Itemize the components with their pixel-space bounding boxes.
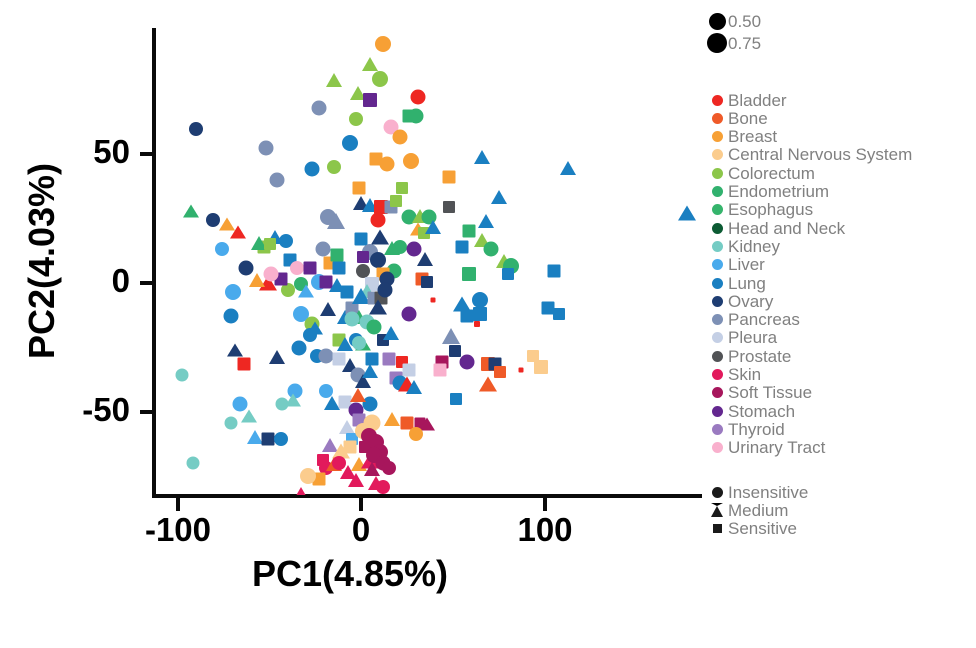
legend-circle-icon <box>712 223 723 234</box>
color-legend-item-breast-marker <box>706 131 728 142</box>
legend-circle-icon <box>712 442 723 453</box>
legend-circle-icon <box>712 131 723 142</box>
y-tick--50 <box>140 410 153 414</box>
x-tick-label-100: 100 <box>485 513 605 546</box>
scatter-point <box>409 109 424 124</box>
legend-circle-icon <box>712 314 723 325</box>
x-tick-100 <box>543 498 547 511</box>
color-legend-item-breast[interactable]: Breast <box>706 128 777 146</box>
scatter-point <box>206 213 220 227</box>
scatter-point <box>355 232 368 245</box>
legend-circle-icon <box>712 95 723 106</box>
scatter-point <box>261 432 274 445</box>
color-legend-item-bladder-label: Bladder <box>728 92 787 109</box>
color-legend-item-endometrium-label: Endometrium <box>728 183 829 200</box>
legend-circle-icon <box>712 113 723 124</box>
scatter-point <box>474 150 490 164</box>
scatter-point <box>238 261 253 276</box>
scatter-point <box>258 141 273 156</box>
scatter-point <box>370 252 386 268</box>
scatter-point <box>300 468 316 484</box>
legend-circle-icon <box>712 332 723 343</box>
color-legend-item-liver-marker <box>706 259 728 270</box>
scatter-point <box>264 266 279 281</box>
scatter-point <box>285 394 301 407</box>
scatter-point <box>384 412 400 426</box>
scatter-point <box>307 322 323 335</box>
color-legend-item-skin-label: Skin <box>728 366 761 383</box>
scatter-point <box>502 268 514 280</box>
scatter-point <box>225 284 241 300</box>
size-legend-item-0-marker <box>706 13 728 30</box>
x-tick-label-0: 0 <box>301 513 421 546</box>
size-legend-item-1-marker <box>706 33 728 53</box>
scatter-point <box>356 264 370 278</box>
color-legend-item-pancreas-marker <box>706 314 728 325</box>
scatter-point <box>378 282 393 297</box>
scatter-point <box>319 349 334 364</box>
color-legend-item-kidney-label: Kidney <box>728 238 780 255</box>
color-legend-item-head-and-neck-marker <box>706 223 728 234</box>
color-legend-item-prostate-marker <box>706 351 728 362</box>
scatter-point <box>175 368 188 381</box>
scatter-point <box>390 195 402 207</box>
color-legend-item-ovary[interactable]: Ovary <box>706 292 773 310</box>
color-legend-item-pleura-label: Pleura <box>728 329 777 346</box>
color-legend-item-soft-tissue-marker <box>706 387 728 398</box>
scatter-point <box>455 240 468 253</box>
scatter-point <box>409 427 423 441</box>
color-legend-item-prostate[interactable]: Prostate <box>706 347 791 365</box>
size-legend-item-0[interactable]: 0.50 <box>706 12 761 30</box>
scatter-point <box>241 410 257 423</box>
scatter-point <box>364 462 380 476</box>
scatter-point <box>450 393 462 405</box>
color-legend-item-esophagus-marker <box>706 204 728 215</box>
scatter-point <box>375 36 391 52</box>
scatter-point <box>376 480 390 494</box>
color-legend-item-lung-marker <box>706 278 728 289</box>
color-legend-item-esophagus[interactable]: Esophagus <box>706 201 813 219</box>
scatter-point <box>442 328 460 344</box>
scatter-point <box>264 238 276 250</box>
scatter-point <box>553 308 565 320</box>
color-legend-item-liver[interactable]: Liver <box>706 256 765 274</box>
scatter-point <box>348 473 364 487</box>
legend-square-icon <box>713 524 722 533</box>
shape-legend-item-medium-marker <box>706 503 728 517</box>
color-legend-item-kidney[interactable]: Kidney <box>706 237 780 255</box>
shape-legend-item-medium[interactable]: Medium <box>706 501 788 519</box>
scatter-point <box>384 241 400 255</box>
legend-circle-icon <box>712 424 723 435</box>
size-legend-item-0-label: 0.50 <box>728 13 761 30</box>
color-legend-item-stomach-label: Stomach <box>728 403 795 420</box>
scatter-point <box>186 456 199 469</box>
color-legend-item-ovary-label: Ovary <box>728 293 773 310</box>
legend-circle-icon <box>712 406 723 417</box>
x-tick--100 <box>176 498 180 511</box>
legend-circle-icon <box>712 149 723 160</box>
legend-circle-icon <box>709 13 726 30</box>
scatter-point <box>215 242 229 256</box>
legend-circle-icon <box>712 487 723 498</box>
shape-legend-item-insensitive-label: Insensitive <box>728 484 808 501</box>
legend-circle-icon <box>707 33 727 53</box>
y-tick-0 <box>140 281 153 285</box>
shape-legend-item-insensitive-marker <box>706 487 728 498</box>
scatter-point <box>315 242 330 257</box>
scatter-point <box>227 343 243 356</box>
color-legend-item-pancreas[interactable]: Pancreas <box>706 311 800 329</box>
scatter-point <box>382 352 395 365</box>
color-legend-item-bone-marker <box>706 113 728 124</box>
scatter-point <box>333 262 346 275</box>
color-legend-item-stomach[interactable]: Stomach <box>706 402 795 420</box>
legend-circle-icon <box>712 296 723 307</box>
color-legend-item-skin-marker <box>706 369 728 380</box>
color-legend-item-pancreas-label: Pancreas <box>728 311 800 328</box>
x-tick-label--100: -100 <box>118 513 238 546</box>
color-legend-item-colorectum-marker <box>706 168 728 179</box>
color-legend-item-thyroid[interactable]: Thyroid <box>706 420 785 438</box>
scatter-point <box>327 213 345 229</box>
legend-circle-icon <box>712 186 723 197</box>
color-legend-item-esophagus-label: Esophagus <box>728 201 813 218</box>
color-legend-item-bone[interactable]: Bone <box>706 109 768 127</box>
scatter-point <box>304 162 319 177</box>
legend-circle-icon <box>712 241 723 252</box>
scatter-point <box>342 135 358 151</box>
pca-scatter-figure: 50 0 -50 -100 0 100 PC1(4.85%) PC2(4.03%… <box>0 0 976 648</box>
scatter-point <box>460 354 475 369</box>
scatter-point <box>225 416 238 429</box>
color-legend-item-soft-tissue-label: Soft Tissue <box>728 384 812 401</box>
scatter-point <box>370 213 385 228</box>
scatter-point <box>183 204 199 217</box>
color-legend-item-lung-label: Lung <box>728 275 766 292</box>
scatter-point <box>362 57 378 71</box>
scatter-point <box>678 206 696 221</box>
scatter-point <box>349 112 363 126</box>
scatter-point <box>406 380 422 394</box>
legend-circle-icon <box>712 204 723 215</box>
scatter-point <box>403 153 419 169</box>
legend-triangle-icon <box>711 503 723 517</box>
scatter-point <box>279 234 293 248</box>
scatter-point <box>230 226 246 239</box>
scatter-point <box>401 306 416 321</box>
scatter-point <box>290 261 304 275</box>
shape-legend-item-sensitive-marker <box>706 524 728 533</box>
scatter-point <box>326 73 342 87</box>
scatter-point <box>352 336 366 350</box>
color-legend-item-skin[interactable]: Skin <box>706 366 761 384</box>
scatter-point <box>421 276 433 288</box>
scatter-point <box>353 182 366 195</box>
color-legend-item-breast-label: Breast <box>728 128 777 145</box>
scatter-point <box>473 307 487 321</box>
color-legend-item-endometrium-marker <box>706 186 728 197</box>
legend-circle-icon <box>712 168 723 179</box>
legend-circle-icon <box>712 387 723 398</box>
scatter-point <box>411 90 426 105</box>
scatter-point <box>382 461 396 475</box>
scatter-point <box>350 388 366 402</box>
color-legend-item-central-nervous-system[interactable]: Central Nervous System <box>706 146 912 164</box>
y-tick-50 <box>140 152 153 156</box>
scatter-point <box>449 345 461 357</box>
color-legend-item-soft-tissue[interactable]: Soft Tissue <box>706 384 812 402</box>
scatter-point <box>462 267 476 281</box>
color-legend-item-bladder[interactable]: Bladder <box>706 91 787 109</box>
color-legend-item-liver-label: Liver <box>728 256 765 273</box>
color-legend-item-head-and-neck[interactable]: Head and Neck <box>706 219 845 237</box>
legend-circle-icon <box>712 369 723 380</box>
scatter-point <box>357 251 369 263</box>
scatter-point <box>345 311 360 326</box>
scatter-point <box>443 201 455 213</box>
scatter-point <box>547 264 560 277</box>
scatter-point <box>274 432 288 446</box>
scatter-point <box>474 321 480 327</box>
legend-circle-icon <box>712 259 723 270</box>
shape-legend-item-medium-label: Medium <box>728 502 788 519</box>
color-legend-item-pleura-marker <box>706 332 728 343</box>
color-legend-item-urinary-tract-label: Urinary Tract <box>728 439 825 456</box>
scatter-point <box>402 363 415 376</box>
scatter-point <box>340 286 353 299</box>
color-legend-item-lung[interactable]: Lung <box>706 274 766 292</box>
scatter-point <box>291 341 306 356</box>
scatter-point <box>396 182 408 194</box>
y-axis-label: PC2(4.03%) <box>24 51 60 471</box>
shape-legend-item-insensitive[interactable]: Insensitive <box>706 483 808 501</box>
color-legend-item-kidney-marker <box>706 241 728 252</box>
scatter-point <box>237 358 250 371</box>
size-legend-item-1-label: 0.75 <box>728 35 761 52</box>
scatter-point <box>269 173 284 188</box>
scatter-point <box>249 273 265 287</box>
color-legend-item-urinary-tract[interactable]: Urinary Tract <box>706 439 825 457</box>
scatter-point <box>303 262 316 275</box>
scatter-point <box>443 171 456 184</box>
legend-circle-icon <box>712 278 723 289</box>
shape-legend-item-sensitive-label: Sensitive <box>728 520 797 537</box>
legend-panel: 0.500.75 BladderBoneBreastCentral Nervou… <box>706 0 976 648</box>
scatter-point <box>363 93 377 107</box>
scatter-point <box>479 376 497 391</box>
scatter-point <box>534 360 548 374</box>
color-legend-item-thyroid-marker <box>706 424 728 435</box>
scatter-point <box>327 160 341 174</box>
scatter-point <box>379 157 394 172</box>
color-legend-item-thyroid-label: Thyroid <box>728 421 785 438</box>
color-legend-item-colorectum[interactable]: Colorectum <box>706 164 815 182</box>
color-legend-item-urinary-tract-marker <box>706 442 728 453</box>
scatter-point <box>491 190 507 204</box>
color-legend-item-ovary-marker <box>706 296 728 307</box>
scatter-point <box>224 309 239 324</box>
scatter-point <box>430 298 435 303</box>
color-legend-item-head-and-neck-label: Head and Neck <box>728 220 845 237</box>
shape-legend-item-sensitive[interactable]: Sensitive <box>706 520 797 538</box>
scatter-point <box>425 220 441 234</box>
scatter-point <box>362 364 378 378</box>
scatter-plot-area <box>156 28 702 495</box>
color-legend-item-bone-label: Bone <box>728 110 768 127</box>
size-legend-item-1[interactable]: 0.75 <box>706 34 761 52</box>
scatter-point <box>417 252 433 266</box>
scatter-point <box>518 367 523 372</box>
scatter-point <box>461 310 474 323</box>
scatter-point <box>339 420 355 434</box>
scatter-point <box>331 248 344 261</box>
color-legend-item-prostate-label: Prostate <box>728 348 791 365</box>
color-legend-item-central-nervous-system-label: Central Nervous System <box>728 146 912 163</box>
color-legend-item-pleura[interactable]: Pleura <box>706 329 777 347</box>
scatter-point <box>189 122 203 136</box>
scatter-point <box>383 326 399 340</box>
legend-circle-icon <box>712 351 723 362</box>
color-legend-item-colorectum-label: Colorectum <box>728 165 815 182</box>
scatter-point <box>560 161 576 175</box>
color-legend-item-bladder-marker <box>706 95 728 106</box>
scatter-point <box>320 302 336 316</box>
scatter-point <box>372 71 388 87</box>
color-legend-item-central-nervous-system-marker <box>706 149 728 160</box>
scatter-point <box>312 101 327 116</box>
scatter-point <box>367 319 382 334</box>
x-tick-0 <box>359 498 363 511</box>
x-axis-label: PC1(4.85%) <box>0 556 700 592</box>
color-legend-item-endometrium[interactable]: Endometrium <box>706 183 829 201</box>
color-legend-item-stomach-marker <box>706 406 728 417</box>
scatter-point <box>369 299 387 314</box>
scatter-point <box>433 363 446 376</box>
scatter-point <box>392 130 407 145</box>
scatter-point <box>478 214 494 228</box>
scatter-point <box>269 350 285 364</box>
scatter-point <box>293 487 309 496</box>
